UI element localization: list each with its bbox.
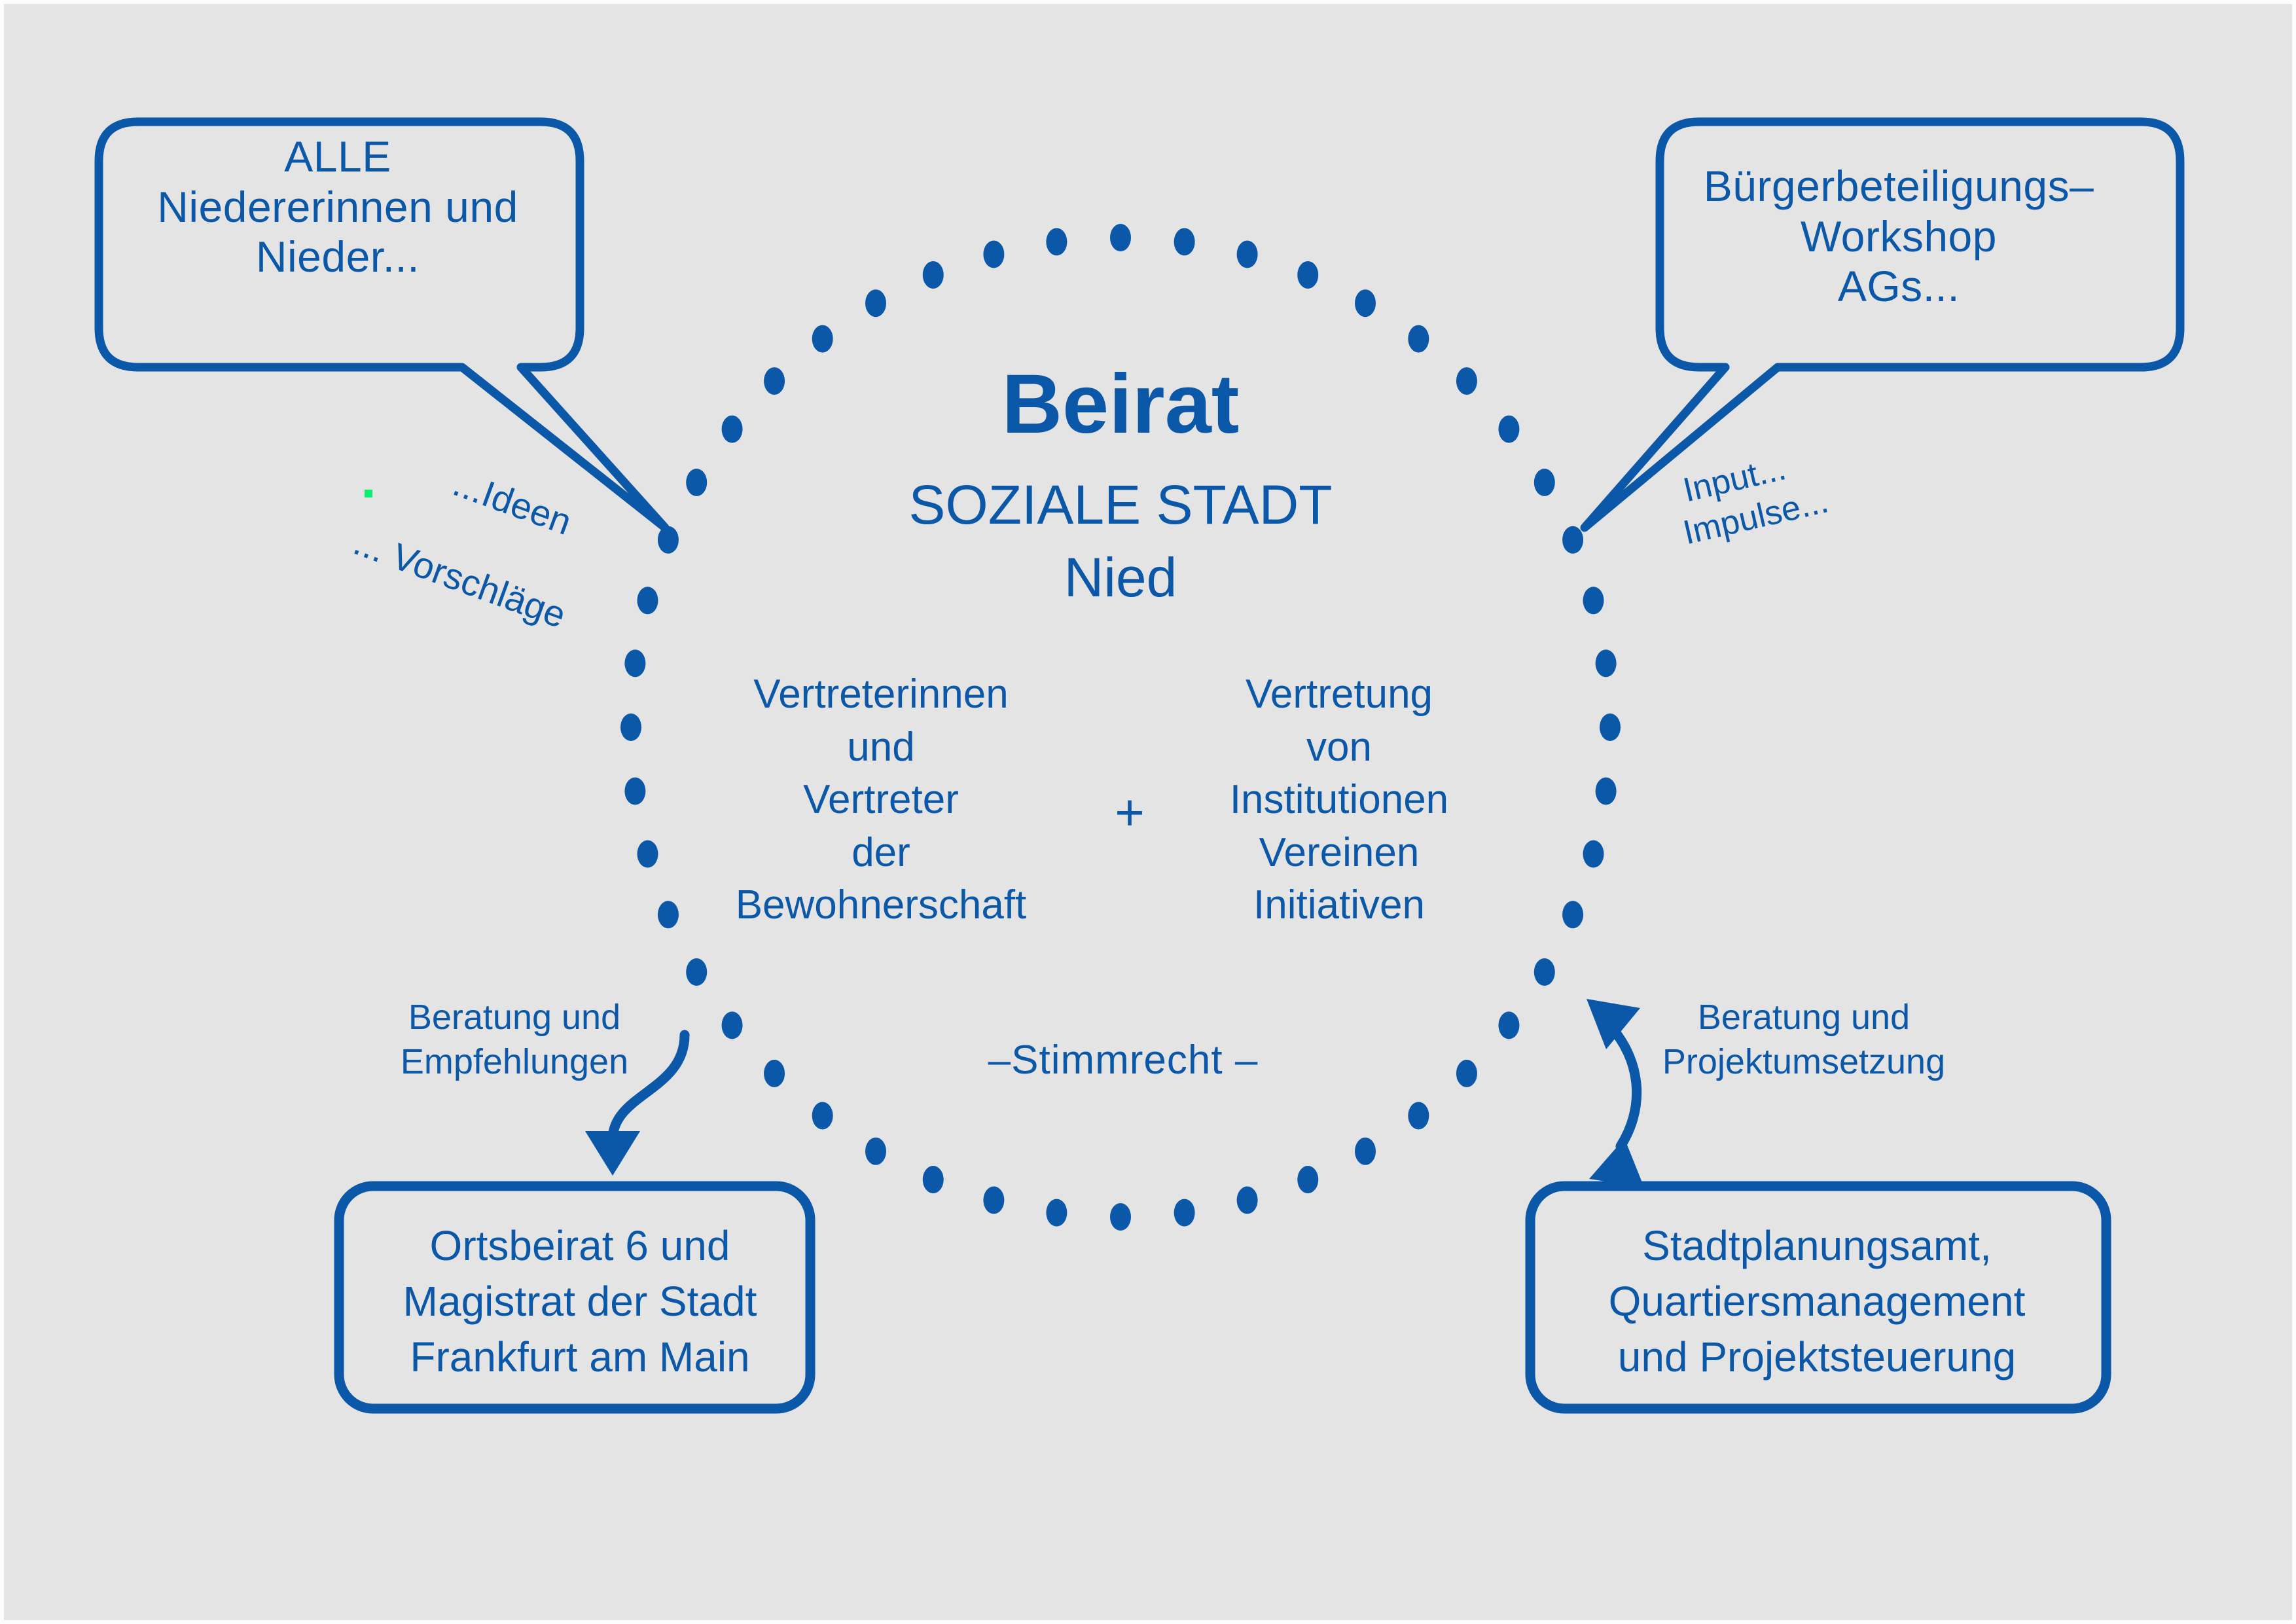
green-speck-artifact [365, 490, 372, 497]
center-subtitle: SOZIALE STADT [793, 474, 1448, 535]
ring-dot [983, 240, 1004, 268]
arrow-beratung-projektumsetzung [1587, 999, 1644, 1187]
ring-dot [923, 1166, 944, 1193]
ring-dot [812, 325, 833, 353]
center-column-right: Vertretung von Institutionen Vereinen In… [1189, 668, 1490, 932]
ring-dot [1110, 1203, 1131, 1231]
ring-dot [764, 367, 785, 395]
ring-dot [1046, 1199, 1067, 1227]
ring-dot [620, 713, 641, 741]
ring-dot [865, 1138, 886, 1165]
ring-dot [1534, 469, 1555, 496]
ring-dot [637, 840, 658, 868]
ring-dot [1498, 1011, 1519, 1039]
ring-dot [1297, 1166, 1318, 1193]
ring-dot [686, 958, 707, 986]
ring-dot [1596, 649, 1617, 677]
ring-dot [624, 649, 645, 677]
speech-bubble-left-label: ALLE Niedererinnen und Nieder... [102, 132, 573, 282]
plus-operator: + [1077, 783, 1182, 842]
arrowhead-down-left [585, 1131, 640, 1176]
ring-dot [686, 469, 707, 496]
ring-dot [637, 586, 658, 614]
ring-dot [1355, 289, 1376, 317]
ring-dot [1583, 840, 1604, 868]
ring-dot [812, 1102, 833, 1129]
ring-dot [1237, 1187, 1258, 1214]
ring-dot [1456, 367, 1477, 395]
ring-dot [865, 289, 886, 317]
ring-dot [1562, 901, 1583, 928]
ring-dot [1408, 1102, 1429, 1129]
ring-dot [1534, 958, 1555, 986]
ring-dot [658, 901, 679, 928]
diagram-canvas: ALLE Niedererinnen und Nieder... Bürgerb… [0, 0, 2296, 1624]
ring-dot [1583, 586, 1604, 614]
ring-dot [1046, 228, 1067, 255]
ring-dot [1456, 1060, 1477, 1087]
ring-dot [722, 1011, 743, 1039]
ring-dot [983, 1187, 1004, 1214]
arrowhead-up-left [1587, 999, 1640, 1049]
arrow-label-beratung-empfehlungen: Beratung und Empfehlungen [377, 996, 652, 1084]
box-ortsbeirat-label: Ortsbeirat 6 und Magistrat der Stadt Fra… [361, 1218, 799, 1385]
ring-dot [1600, 713, 1621, 741]
ring-dot [624, 778, 645, 805]
ring-dot [1297, 261, 1318, 289]
arrow-label-beratung-projektumsetzung: Beratung und Projektumsetzung [1647, 996, 1961, 1084]
ring-dot [1498, 416, 1519, 443]
ring-dot [1237, 240, 1258, 268]
speech-bubble-right-label: Bürgerbeteiligungs– Workshop AGs... [1670, 161, 2128, 312]
ring-dot [1596, 778, 1617, 805]
ring-dot [1174, 228, 1195, 255]
ring-dot [658, 526, 679, 554]
ring-dot [1174, 1199, 1195, 1227]
center-location: Nied [793, 546, 1448, 609]
ring-dot [1562, 526, 1583, 554]
center-footer-stimmrecht: –Stimmrecht – [920, 1037, 1326, 1084]
ring-dot [722, 416, 743, 443]
box-stadtplanungsamt-label: Stadtplanungsamt, Quartiersmanagement un… [1555, 1218, 2079, 1385]
ring-dot [1355, 1138, 1376, 1165]
ring-dot [1408, 325, 1429, 353]
center-column-left: Vertreterinnen und Vertreter der Bewohne… [711, 668, 1051, 932]
ring-dot [1110, 224, 1131, 251]
ring-dot [764, 1060, 785, 1087]
center-title: Beirat [793, 361, 1448, 448]
ring-dot [923, 261, 944, 289]
